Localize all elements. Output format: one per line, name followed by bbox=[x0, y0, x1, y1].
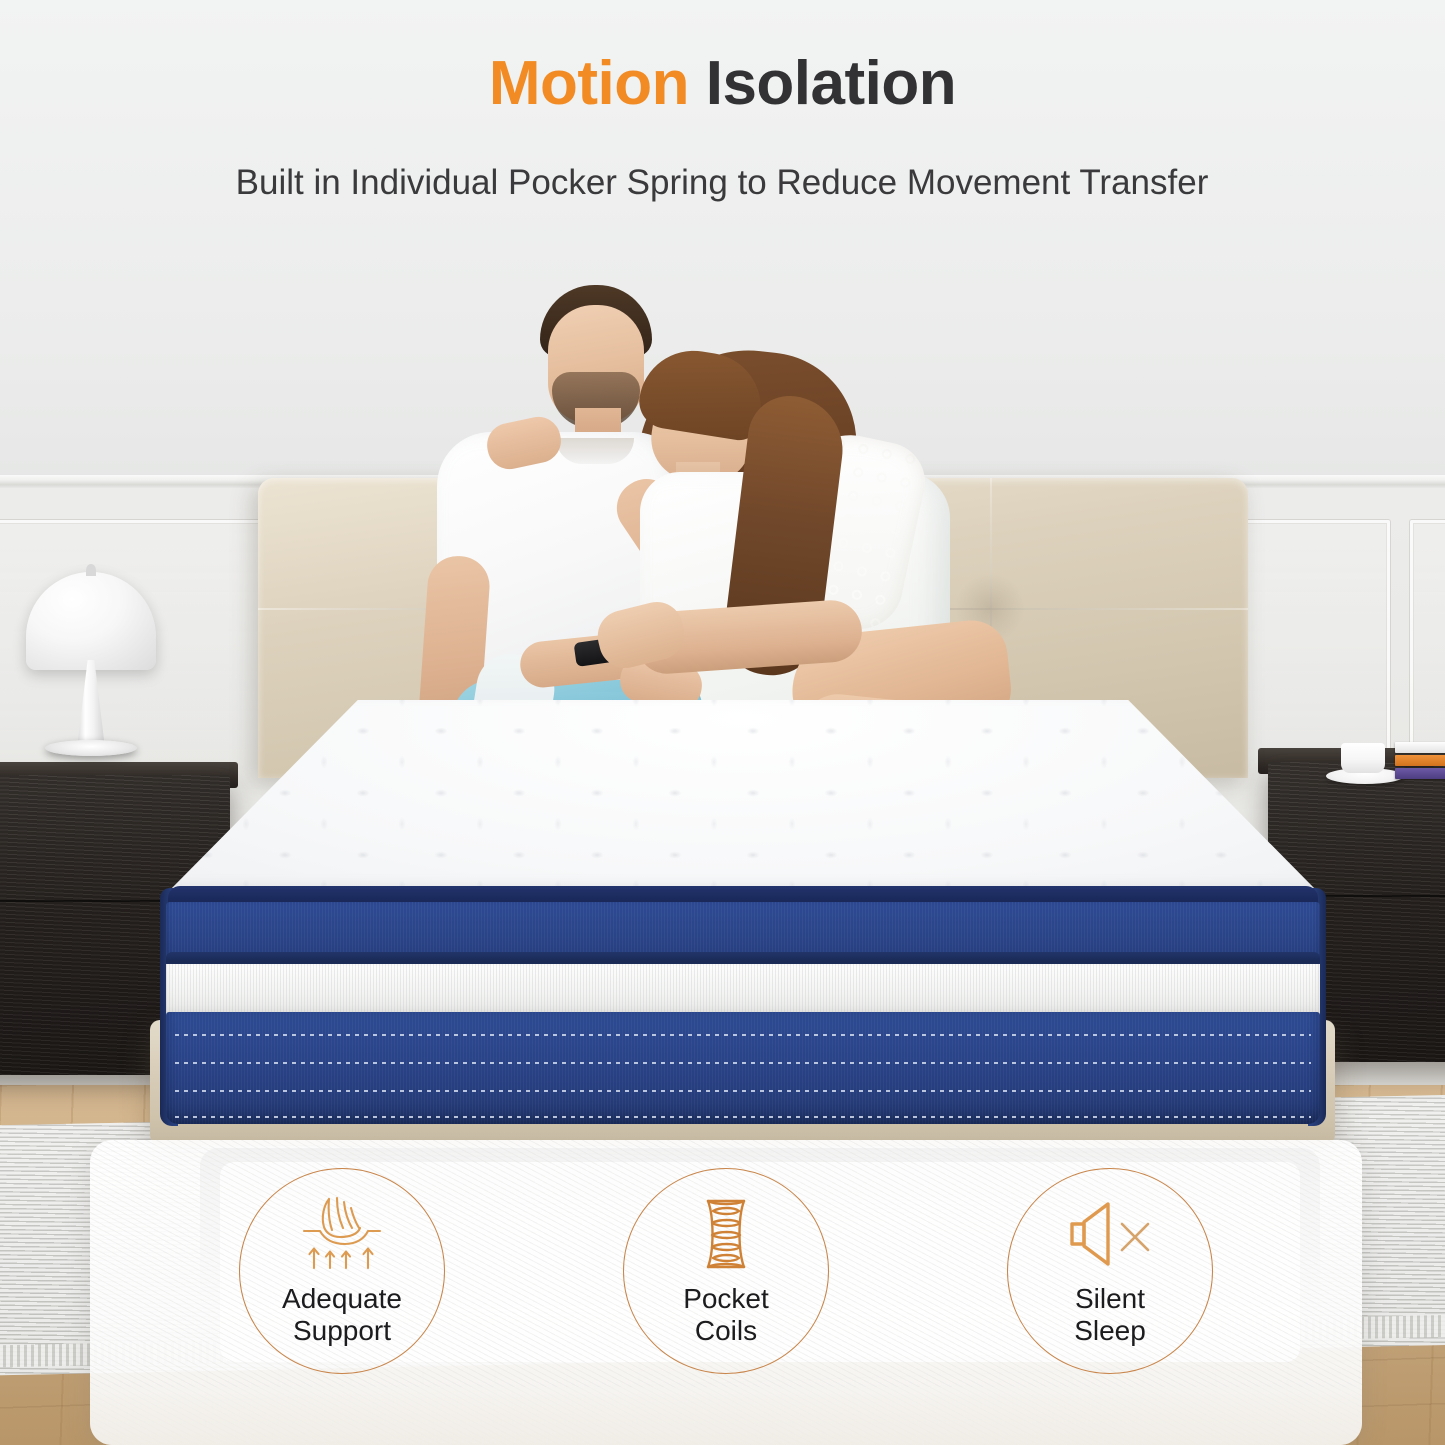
feature-badge-adequate-support[interactable]: AdequateSupport bbox=[239, 1168, 445, 1374]
page-subtitle: Built in Individual Pocker Spring to Red… bbox=[222, 160, 1222, 206]
feature-badges-panel: AdequateSupport bbox=[90, 1140, 1362, 1445]
mattress-stitch-line bbox=[175, 1062, 1311, 1064]
mattress-stitch-line bbox=[175, 1090, 1311, 1092]
mattress-stitch-line bbox=[175, 1034, 1311, 1036]
feature-badge-label: PocketCoils bbox=[683, 1283, 769, 1347]
feature-badge-list: AdequateSupport bbox=[90, 1140, 1362, 1445]
mattress-top-surface bbox=[168, 700, 1318, 892]
feature-badge-pocket-coils[interactable]: PocketCoils bbox=[623, 1168, 829, 1374]
title-accent-word: Motion bbox=[489, 49, 689, 118]
pocket-coil-spring-icon bbox=[680, 1195, 772, 1273]
hand-pressing-support-icon bbox=[296, 1195, 388, 1273]
product-marketing-image: Motion Isolation Built in Individual Poc… bbox=[0, 0, 1445, 1445]
mattress-navy-lower-band bbox=[166, 1012, 1320, 1124]
mattress-white-mesh-band bbox=[166, 964, 1320, 1016]
feature-badge-label: AdequateSupport bbox=[282, 1283, 402, 1347]
feature-badge-silent-sleep[interactable]: SilentSleep bbox=[1007, 1168, 1213, 1374]
mattress-quilt-pattern bbox=[168, 700, 1318, 892]
feature-badge-label: SilentSleep bbox=[1074, 1283, 1146, 1347]
mattress-stitch-line bbox=[175, 1116, 1311, 1118]
title-rest-word: Isolation bbox=[689, 49, 956, 118]
page-title: Motion Isolation bbox=[0, 48, 1445, 119]
muted-speaker-icon bbox=[1064, 1195, 1156, 1273]
